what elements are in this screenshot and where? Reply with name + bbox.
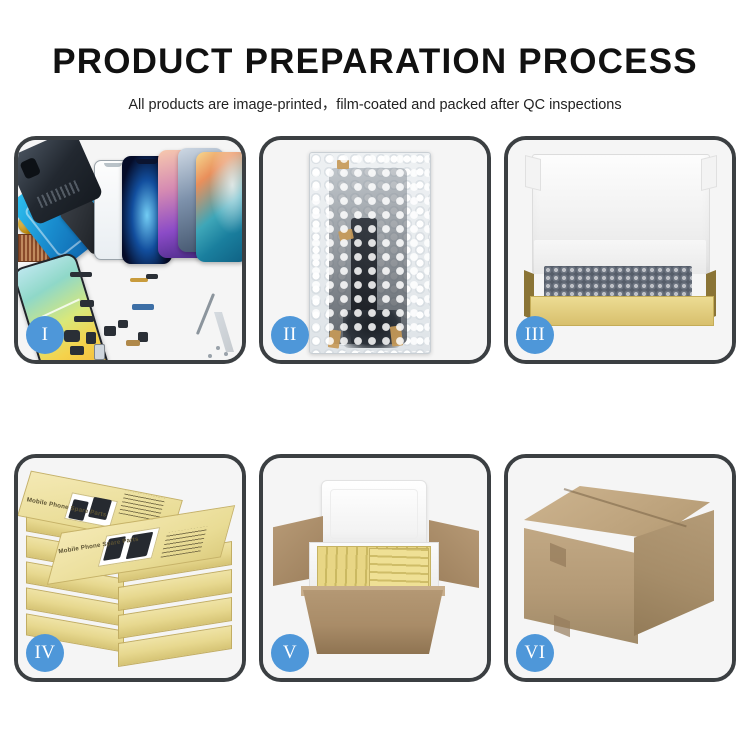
sim-tray-icon	[94, 344, 105, 360]
tape-strip-icon	[337, 160, 349, 169]
carton-body-icon	[303, 590, 443, 654]
process-step-grid: I II	[14, 136, 736, 682]
step-badge-5: V	[271, 634, 309, 672]
page-title: PRODUCT PREPARATION PROCESS	[0, 0, 750, 81]
product-preparation-process-page: PRODUCT PREPARATION PROCESS All products…	[0, 0, 750, 750]
small-part-icon	[118, 320, 128, 328]
process-step-panel-2[interactable]: II	[259, 136, 491, 364]
small-part-icon	[104, 326, 116, 336]
flex-cable-icon	[146, 274, 158, 279]
process-step-panel-3[interactable]: III	[504, 136, 736, 364]
camera-module-icon	[64, 330, 80, 342]
step-badge-2: II	[271, 316, 309, 354]
process-step-panel-4[interactable]: Mobile Phone Spare Parts Mobile Phone Sp…	[14, 454, 246, 682]
step-badge-3: III	[516, 316, 554, 354]
flex-cable-icon	[70, 272, 92, 277]
small-part-icon	[86, 332, 96, 344]
flex-cable-icon	[132, 304, 154, 310]
step-badge-4: IV	[26, 634, 64, 672]
screw-icon	[216, 346, 220, 350]
screw-icon	[208, 354, 212, 358]
step-badge-1: I	[26, 316, 64, 354]
process-step-panel-1[interactable]: I	[14, 136, 246, 364]
process-step-panel-5[interactable]: V	[259, 454, 491, 682]
small-part-icon	[70, 346, 84, 355]
repair-tool-icon	[196, 293, 215, 335]
process-step-panel-6[interactable]: VI	[504, 454, 736, 682]
kraft-tray-front-icon	[530, 296, 714, 326]
page-header: PRODUCT PREPARATION PROCESS All products…	[0, 0, 750, 114]
tape-strip-icon	[390, 325, 403, 346]
flex-cable-icon	[130, 278, 148, 282]
connector-part-icon	[80, 300, 94, 307]
carton-front-face-icon	[524, 528, 638, 644]
phone-screen-wave-icon	[196, 152, 246, 262]
page-subtitle: All products are image-printed，film-coat…	[0, 81, 750, 114]
yellow-boxes-row-icon	[369, 548, 429, 588]
grey-bubble-contents-icon	[544, 266, 692, 298]
small-part-icon	[126, 340, 140, 346]
connector-part-icon	[74, 316, 94, 322]
step-badge-6: VI	[516, 634, 554, 672]
screw-icon	[224, 352, 228, 356]
